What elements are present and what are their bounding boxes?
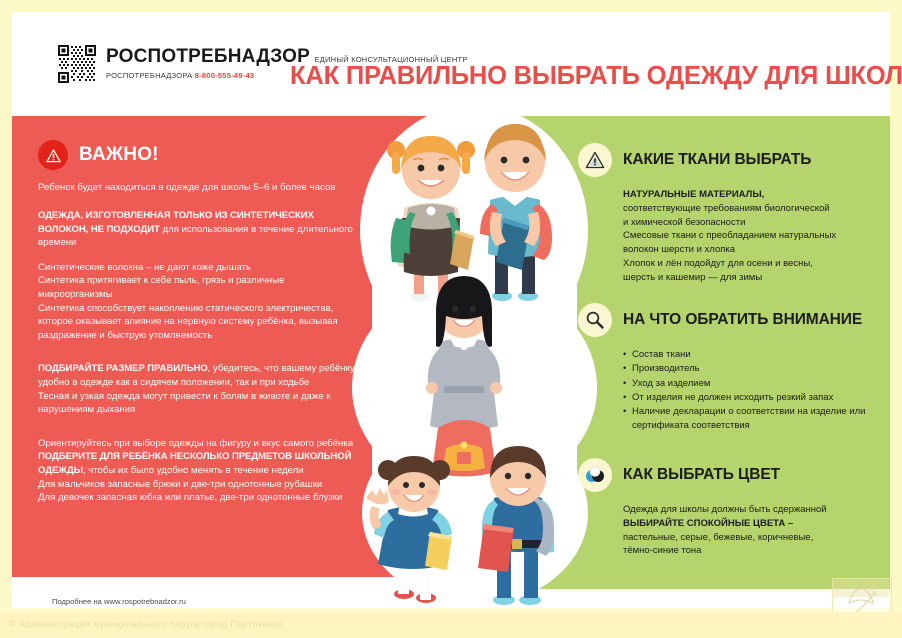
page-title: КАК ПРАВИЛЬНО ВЫБРАТЬ ОДЕЖДУ ДЛЯ ШКОЛЫ <box>290 62 890 91</box>
magnifier-icon <box>578 303 612 337</box>
section-fabrics-header: КАКИЕ ТКАНИ ВЫБРАТЬ <box>578 143 878 177</box>
important-block-0: ОДЕЖДА, ИЗГОТОВЛЕННАЯ ТОЛЬКО ИЗ СИНТЕТИЧ… <box>38 209 356 250</box>
list-item: Производитель <box>623 362 878 376</box>
section-fabrics-line-3: волокон шерсти и хлопка <box>623 244 735 255</box>
important-block-3-rest: Синтетика способствует накоплению статич… <box>38 303 338 341</box>
important-block-6: Ориентируйтесь при выборе одежды на фигу… <box>38 437 356 451</box>
section-color-header: КАК ВЫБРАТЬ ЦВЕТ <box>578 458 878 492</box>
important-block-7: ПОДБЕРИТЕ ДЛЯ РЕБЁНКА НЕСКОЛЬКО ПРЕДМЕТО… <box>38 450 356 477</box>
section-color-line3: пастельные, серые, бежевые, коричневые, <box>623 532 813 543</box>
section-fabrics-title: КАКИЕ ТКАНИ ВЫБРАТЬ <box>623 151 811 169</box>
list-item: Наличие декларации о соответствии на изд… <box>623 405 878 434</box>
important-block-6-rest: Ориентируйтесь при выборе одежды на фигу… <box>38 438 353 449</box>
section-color-title: КАК ВЫБРАТЬ ЦВЕТ <box>623 466 780 484</box>
section-color-line1: Одежда для школы должны быть сдержанной <box>623 504 827 515</box>
important-block-2: Синтетика притягивает к себе пыль, грязь… <box>38 274 356 301</box>
poster-root: РОСПОТРЕБНАДЗОР ЕДИНЫЙ КОНСУЛЬТАЦИОННЫЙ … <box>0 0 902 638</box>
important-block-2-rest: Синтетика притягивает к себе пыль, грязь… <box>38 275 284 300</box>
poster-header: РОСПОТРЕБНАДЗОР ЕДИНЫЙ КОНСУЛЬТАЦИОННЫЙ … <box>12 12 890 104</box>
section-attention-list: Состав ткани Производитель Уход за издел… <box>578 348 878 434</box>
brand-name: РОСПОТРЕБНАДЗОР <box>106 46 310 67</box>
section-color-text: Одежда для школы должны быть сдержанной … <box>578 503 878 558</box>
important-heading-row: ВАЖНО! <box>38 140 159 170</box>
important-block-5: Тесная и узкая одежда могут привести к б… <box>38 390 356 417</box>
list-item: Уход за изделием <box>623 377 878 391</box>
schoolchildren-illustration <box>352 100 602 610</box>
color-circles-icon <box>578 458 612 492</box>
brand-subtitle-line2: РОСПОТРЕБНАДЗОРА <box>106 71 192 80</box>
section-color-line4: тёмно-синие тона <box>623 545 701 556</box>
hotline-phone: 8-800-555-49-43 <box>195 71 255 80</box>
warning-triangle-icon <box>38 140 68 170</box>
qr-code-icon <box>57 44 97 84</box>
important-block-1-rest: Синтетические волокна – не дают коже дыш… <box>38 262 251 273</box>
section-fabrics-line-4: Хлопок и лён подойдут для осени и весны, <box>623 258 813 269</box>
important-lead: Ребенок будет находиться в одежде для шк… <box>38 182 356 195</box>
section-fabrics-text: НАТУРАЛЬНЫЕ МАТЕРИАЛЫ, соответствующие т… <box>578 188 878 284</box>
important-block-9-rest: Для девочек запасная юбка или платье, дв… <box>38 492 342 503</box>
section-fabrics: КАКИЕ ТКАНИ ВЫБРАТЬ НАТУРАЛЬНЫЕ МАТЕРИАЛ… <box>578 143 878 284</box>
important-block-7-rest: , чтобы их было удобно менять в течение … <box>83 465 304 476</box>
section-fabrics-line-0: соответствующие требованиям биологическо… <box>623 203 830 214</box>
section-attention: НА ЧТО ОБРАТИТЬ ВНИМАНИЕ Состав ткани Пр… <box>578 303 878 434</box>
important-block-4-bold: ПОДБИРАЙТЕ РАЗМЕР ПРАВИЛЬНО <box>38 363 208 374</box>
section-fabrics-bold-lead: НАТУРАЛЬНЫЕ МАТЕРИАЛЫ, <box>623 189 764 200</box>
important-block-8-rest: Для мальчиков запасные брюки и две-три о… <box>38 479 322 490</box>
important-block-5-rest: Тесная и узкая одежда могут привести к б… <box>38 391 331 416</box>
important-body: Ребенок будет находиться в одежде для шк… <box>38 182 356 516</box>
important-block-1: Синтетические волокна – не дают коже дыш… <box>38 261 356 275</box>
important-heading: ВАЖНО! <box>79 144 159 166</box>
section-attention-header: НА ЧТО ОБРАТИТЬ ВНИМАНИЕ <box>578 303 878 337</box>
spacer-2 <box>38 428 356 437</box>
section-fabrics-line-5: шерсть и кашемир — для зимы <box>623 272 762 283</box>
section-color-bold-line: ВЫБИРАЙТЕ СПОКОЙНЫЕ ЦВЕТА – <box>623 518 793 529</box>
important-block-4: ПОДБИРАЙТЕ РАЗМЕР ПРАВИЛЬНО, убедитесь, … <box>38 362 356 389</box>
more-info-link[interactable]: Подробнее на www.rospotrebnadzor.ru <box>52 597 186 606</box>
section-fabrics-line-1: и химической безопасности <box>623 217 745 228</box>
important-block-9: Для девочек запасная юбка или платье, дв… <box>38 491 356 505</box>
list-item: От изделия не должен исходить резкий зап… <box>623 391 878 405</box>
section-color: КАК ВЫБРАТЬ ЦВЕТ Одежда для школы должны… <box>578 458 878 558</box>
important-block-8: Для мальчиков запасные брюки и две-три о… <box>38 478 356 492</box>
important-block-3: Синтетика способствует накоплению статич… <box>38 302 356 343</box>
section-attention-title: НА ЧТО ОБРАТИТЬ ВНИМАНИЕ <box>623 311 862 329</box>
warning-triangle-icon <box>578 143 612 177</box>
spacer <box>38 353 356 362</box>
copyright-text: © Администрация муниципального округа го… <box>9 619 282 629</box>
list-item: Состав ткани <box>623 348 878 362</box>
section-fabrics-line-2: Смесовые ткани с преобладанием натуральн… <box>623 230 836 241</box>
